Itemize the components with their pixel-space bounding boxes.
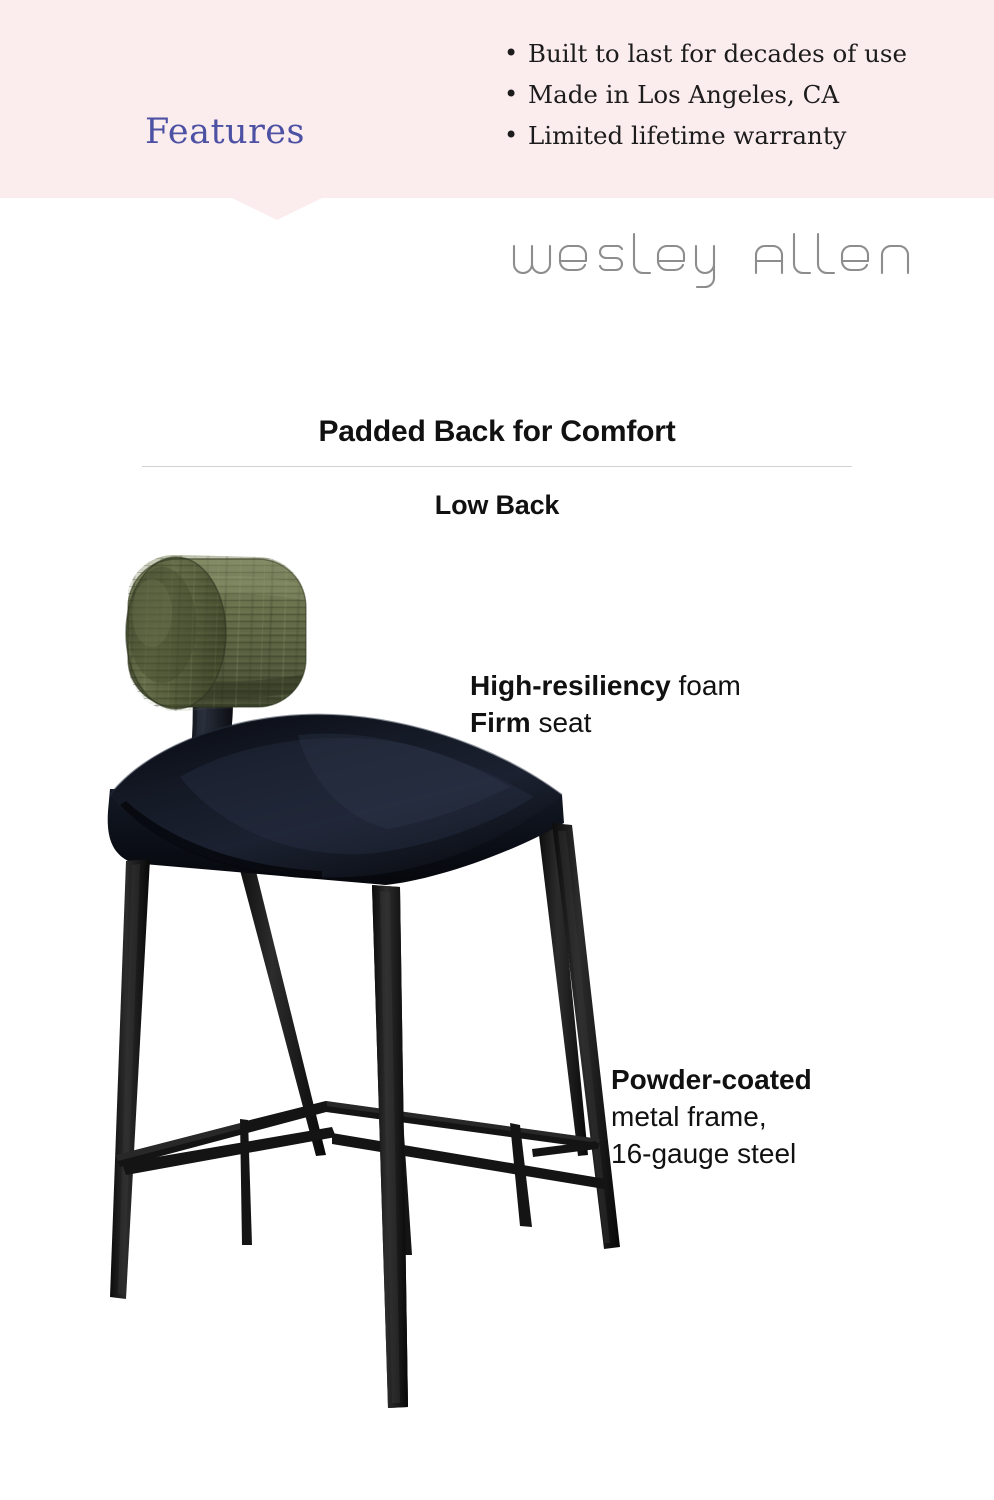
wesley-allen-wordmark-icon	[510, 228, 930, 288]
brand-logo	[510, 228, 930, 288]
features-bullet-list: • Built to last for decades of use • Mad…	[498, 33, 907, 156]
callout-emphasis: High-resiliency	[470, 670, 671, 701]
list-item: • Limited lifetime warranty	[498, 115, 907, 156]
list-item-label: Limited lifetime warranty	[528, 121, 847, 150]
infographic-page: Features • Built to last for decades of …	[0, 0, 994, 1500]
footrest-stretcher-frame	[116, 1101, 606, 1255]
title-divider	[142, 466, 852, 467]
list-item-label: Made in Los Angeles, CA	[528, 80, 839, 109]
list-item-label: Built to last for decades of use	[528, 39, 907, 68]
callout-text: seat	[531, 707, 592, 738]
bullet-icon: •	[504, 74, 518, 115]
callout-line: Powder-coated	[611, 1062, 812, 1099]
list-item: • Built to last for decades of use	[498, 33, 907, 74]
callout-emphasis: Powder-coated	[611, 1064, 812, 1095]
list-item: • Made in Los Angeles, CA	[498, 74, 907, 115]
callout-line: Firm seat	[470, 705, 741, 742]
page-subtitle: Low Back	[0, 490, 994, 521]
callout-foam-seat: High-resiliency foam Firm seat	[470, 668, 741, 742]
padded-backrest-cushion	[120, 555, 320, 715]
bullet-icon: •	[504, 115, 518, 156]
callout-text: foam	[671, 670, 741, 701]
page-title: Padded Back for Comfort	[0, 415, 994, 449]
banner-pointer-triangle	[232, 198, 322, 220]
callout-line: metal frame,	[611, 1099, 812, 1136]
callout-emphasis: Firm	[470, 707, 531, 738]
callout-line: High-resiliency foam	[470, 668, 741, 705]
callout-line: 16-gauge steel	[611, 1136, 812, 1173]
bullet-icon: •	[504, 33, 518, 74]
callout-metal-frame: Powder-coated metal frame, 16-gauge stee…	[611, 1062, 812, 1173]
features-heading: Features	[0, 112, 450, 152]
